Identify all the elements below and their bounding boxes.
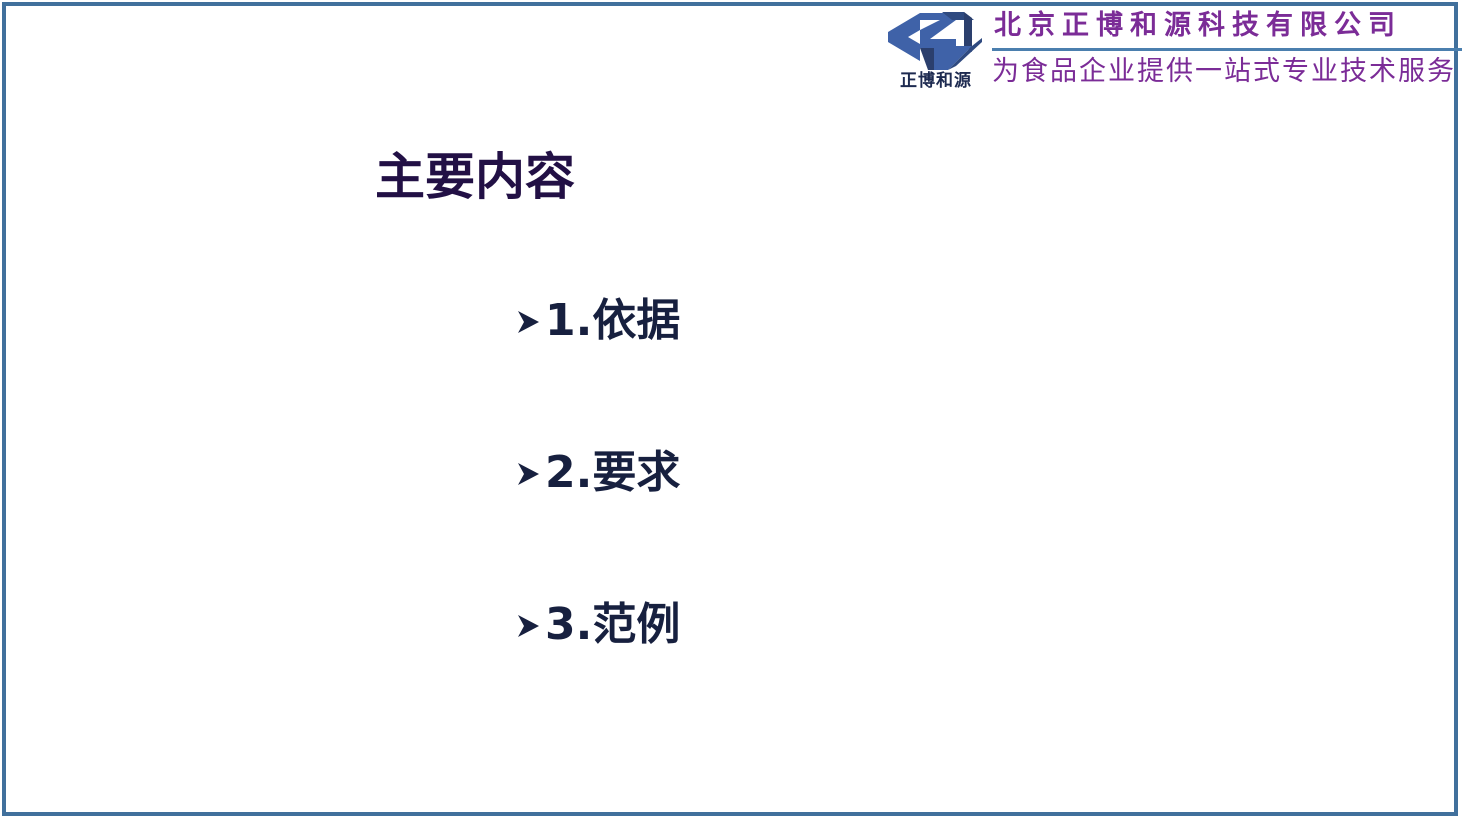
list-item: 1.依据 <box>515 288 1215 354</box>
list-item-label: 3.范例 <box>545 597 680 653</box>
arrow-bullet-icon <box>515 605 543 645</box>
company-name: 北京正博和源科技有限公司 <box>988 6 1462 46</box>
letterhead-text-block: 北京正博和源科技有限公司 为食品企业提供一站式专业技术服务 <box>988 4 1462 90</box>
page-title: 主要内容 <box>375 146 575 208</box>
presentation-slide: 正博和源 北京正博和源科技有限公司 为食品企业提供一站式专业技术服务 主要内容 … <box>0 0 1466 824</box>
arrow-bullet-icon <box>515 301 543 341</box>
agenda-list: 1.依据 2.要求 3.范例 <box>515 288 1215 744</box>
company-tagline: 为食品企业提供一站式专业技术服务 <box>988 54 1462 90</box>
zhengbo-heyuan-logo-icon <box>886 8 986 74</box>
list-item-label: 1.依据 <box>545 293 680 349</box>
list-item: 2.要求 <box>515 440 1215 506</box>
company-letterhead: 正博和源 北京正博和源科技有限公司 为食品企业提供一站式专业技术服务 <box>884 4 1456 106</box>
letterhead-divider <box>992 48 1462 51</box>
company-logo: 正博和源 <box>884 4 988 104</box>
list-item: 3.范例 <box>515 592 1215 658</box>
arrow-bullet-icon <box>515 453 543 493</box>
logo-wordmark-text: 正博和源 <box>884 70 988 92</box>
list-item-label: 2.要求 <box>545 445 680 501</box>
